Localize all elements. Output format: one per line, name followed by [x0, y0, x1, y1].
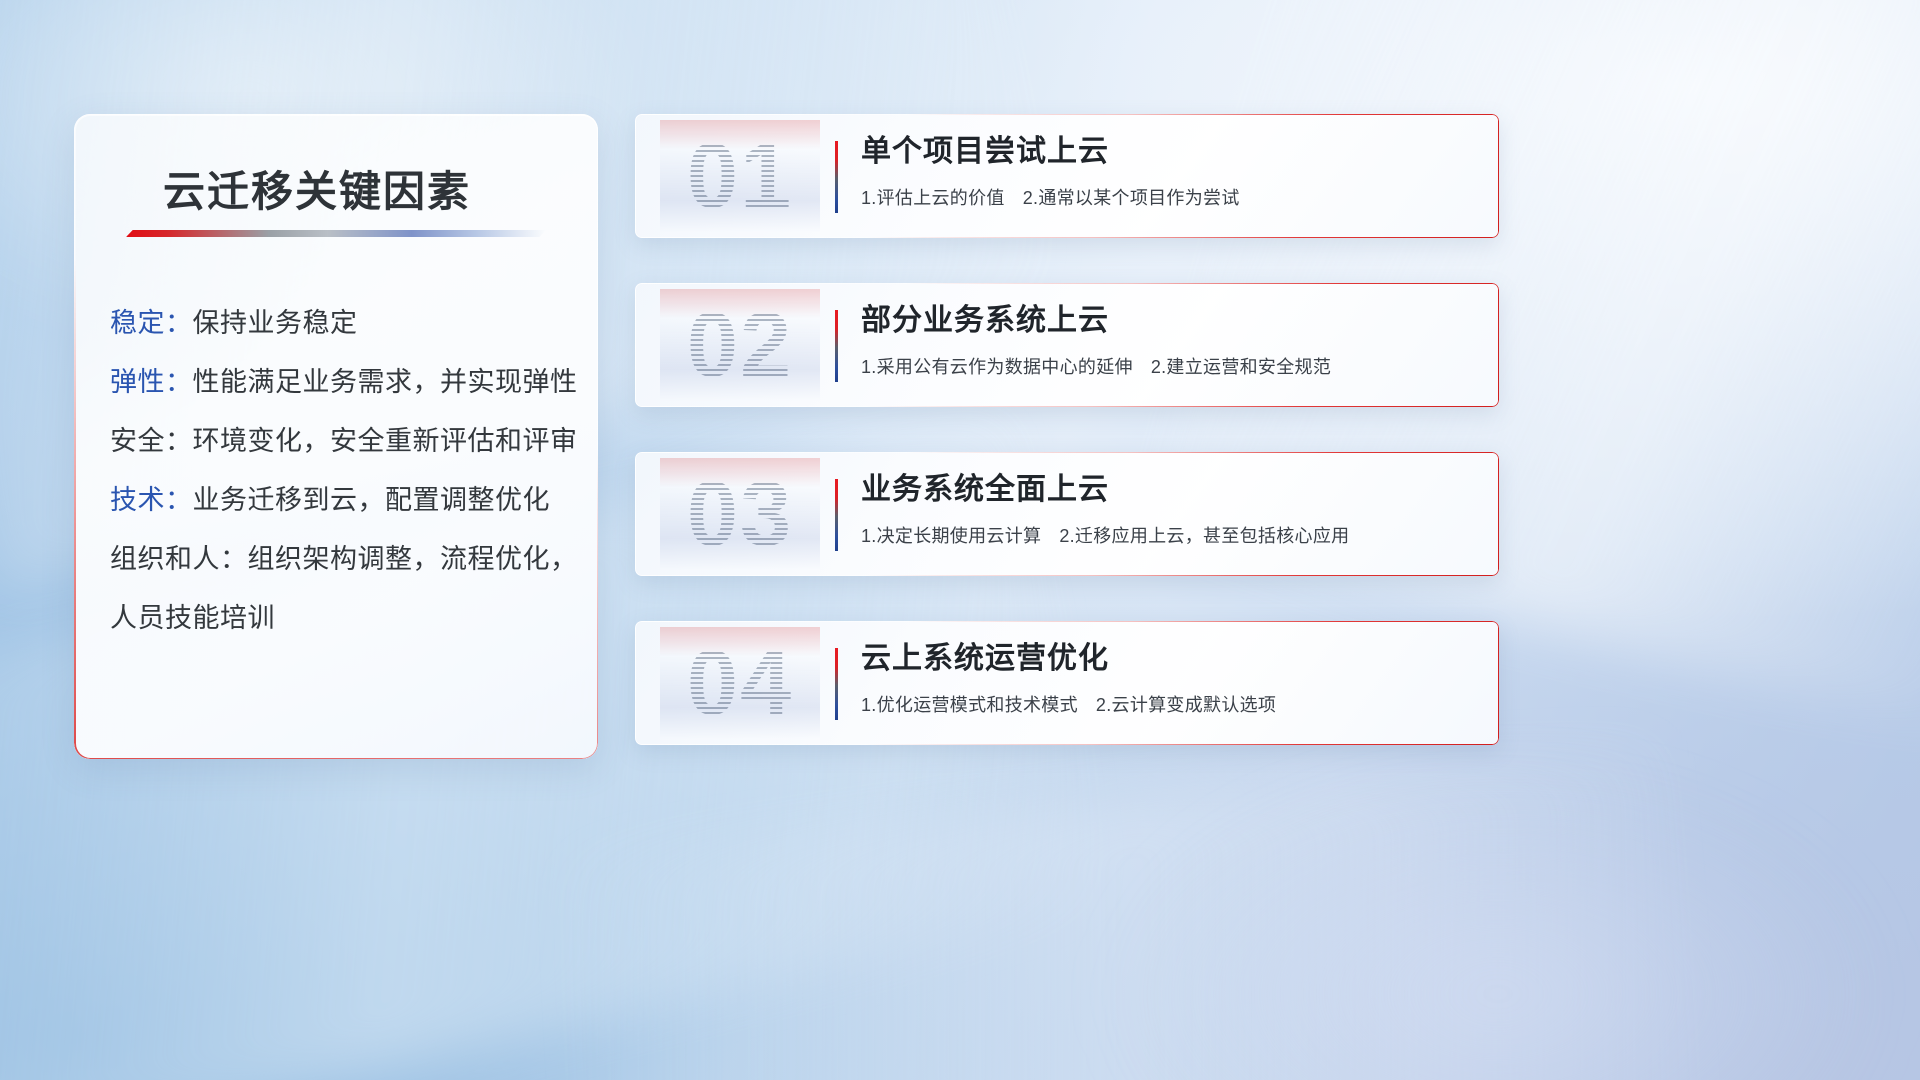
key-factor-text: 业务迁移到云，配置调整优化: [193, 487, 551, 514]
card-point-one: 1.优化运营模式和技术模式: [861, 695, 1078, 715]
card-body: 部分业务系统上云1.采用公有云作为数据中心的延伸2.建立运营和安全规范: [861, 303, 1479, 379]
card-point-two: 2.云计算变成默认选项: [1096, 695, 1276, 715]
key-factor-row: 弹性：性能满足业务需求，并实现弹性: [110, 369, 574, 396]
stage-number-watermark: 01: [660, 120, 820, 232]
key-factor-label: 技术：: [110, 487, 193, 514]
page-title: 云迁移关键因素: [163, 158, 471, 219]
key-factor-text: 环境变化，安全重新评估和评审: [193, 428, 578, 455]
card-point-two: 2.迁移应用上云，甚至包括核心应用: [1059, 526, 1349, 546]
key-factor-text: 组织架构调整，流程优化，: [248, 546, 578, 573]
key-factor-row: 稳定：保持业务稳定: [110, 310, 574, 337]
card-heading: 部分业务系统上云: [861, 303, 1479, 339]
card-divider-accent: [835, 648, 838, 720]
card-body: 业务系统全面上云1.决定长期使用云计算2.迁移应用上云，甚至包括核心应用: [861, 472, 1479, 548]
card-body: 单个项目尝试上云1.评估上云的价值2.通常以某个项目作为尝试: [861, 134, 1479, 210]
card-heading: 云上系统运营优化: [861, 641, 1479, 677]
key-factor-row: 技术：业务迁移到云，配置调整优化: [110, 487, 574, 514]
card-heading: 单个项目尝试上云: [861, 134, 1479, 170]
stage-number-watermark: 03: [660, 458, 820, 570]
card-heading: 业务系统全面上云: [861, 472, 1479, 508]
key-factor-label: 组织和人：: [110, 546, 248, 573]
migration-stage-card[interactable]: 01单个项目尝试上云1.评估上云的价值2.通常以某个项目作为尝试: [635, 114, 1499, 238]
card-point-one: 1.决定长期使用云计算: [861, 526, 1041, 546]
stage-number-watermark: 02: [660, 289, 820, 401]
card-subtitle: 1.优化运营模式和技术模式2.云计算变成默认选项: [861, 691, 1479, 717]
card-divider-accent: [835, 479, 838, 551]
key-factors-panel: 云迁移关键因素 稳定：保持业务稳定弹性：性能满足业务需求，并实现弹性安全：环境变…: [74, 114, 598, 759]
key-factor-row: 安全：环境变化，安全重新评估和评审: [110, 428, 574, 455]
key-factor-text: 人员技能培训: [110, 605, 275, 632]
card-point-two: 2.建立运营和安全规范: [1151, 357, 1331, 377]
card-point-two: 2.通常以某个项目作为尝试: [1023, 188, 1240, 208]
migration-stage-card[interactable]: 03业务系统全面上云1.决定长期使用云计算2.迁移应用上云，甚至包括核心应用: [635, 452, 1499, 576]
key-factor-row: 组织和人：组织架构调整，流程优化，: [110, 546, 574, 573]
card-body: 云上系统运营优化1.优化运营模式和技术模式2.云计算变成默认选项: [861, 641, 1479, 717]
migration-stage-card[interactable]: 04云上系统运营优化1.优化运营模式和技术模式2.云计算变成默认选项: [635, 621, 1499, 745]
slide-stage: 云迁移关键因素 稳定：保持业务稳定弹性：性能满足业务需求，并实现弹性安全：环境变…: [0, 0, 1920, 1080]
stage-number-watermark: 04: [660, 627, 820, 739]
card-subtitle: 1.决定长期使用云计算2.迁移应用上云，甚至包括核心应用: [861, 522, 1479, 548]
migration-stage-card[interactable]: 02部分业务系统上云1.采用公有云作为数据中心的延伸2.建立运营和安全规范: [635, 283, 1499, 407]
card-point-one: 1.采用公有云作为数据中心的延伸: [861, 357, 1133, 377]
card-subtitle: 1.评估上云的价值2.通常以某个项目作为尝试: [861, 184, 1479, 210]
key-factor-label: 安全：: [110, 428, 193, 455]
key-factors-list: 稳定：保持业务稳定弹性：性能满足业务需求，并实现弹性安全：环境变化，安全重新评估…: [110, 310, 574, 664]
migration-stage-card-list: 01单个项目尝试上云1.评估上云的价值2.通常以某个项目作为尝试02部分业务系统…: [635, 114, 1499, 790]
card-divider-accent: [835, 141, 838, 213]
key-factor-row: 人员技能培训: [110, 605, 574, 632]
title-underline-accent: [126, 230, 546, 237]
key-factor-label: 弹性：: [110, 369, 193, 396]
key-factor-text: 保持业务稳定: [193, 310, 358, 337]
card-subtitle: 1.采用公有云作为数据中心的延伸2.建立运营和安全规范: [861, 353, 1479, 379]
key-factor-label: 稳定：: [110, 310, 193, 337]
card-divider-accent: [835, 310, 838, 382]
key-factor-text: 性能满足业务需求，并实现弹性: [193, 369, 578, 396]
card-point-one: 1.评估上云的价值: [861, 188, 1005, 208]
